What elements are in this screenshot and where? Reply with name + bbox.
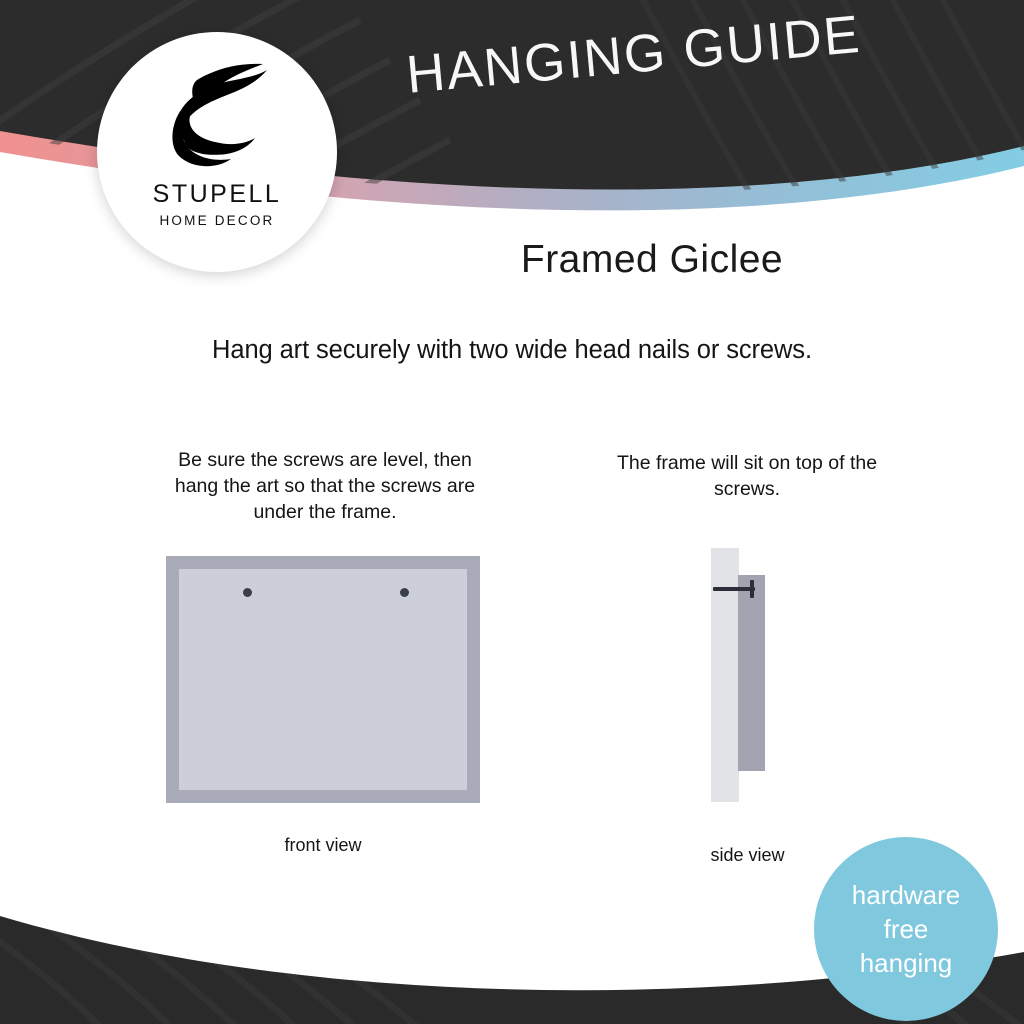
hanging-guide-page: HANGING GUIDE STUPELL HOME DECOR Framed … (0, 0, 1024, 1024)
badge-line-1: hardware (852, 878, 960, 912)
screw-dot-icon (243, 588, 252, 597)
badge-line-2: free (884, 912, 929, 946)
front-view-label: front view (166, 835, 480, 856)
brand-name: STUPELL (153, 182, 282, 207)
badge-line-3: hanging (860, 946, 953, 980)
front-view-diagram (166, 556, 480, 803)
hardware-free-hanging-badge: hardware free hanging (814, 837, 998, 1021)
side-view-diagram (705, 546, 789, 806)
brand-logo-badge: STUPELL HOME DECOR (97, 32, 337, 272)
stupell-s-swoosh-icon (157, 58, 277, 176)
side-view-label: side view (660, 845, 835, 866)
main-instruction: Hang art securely with two wide head nai… (62, 336, 962, 365)
side-view-caption: The frame will sit on top of the screws. (603, 450, 891, 502)
screw-shank-icon (713, 587, 755, 591)
product-type: Framed Giclee (372, 238, 932, 282)
screw-dot-icon (400, 588, 409, 597)
frame-strip (738, 575, 765, 771)
page-title: HANGING GUIDE (372, 1, 895, 109)
front-view-mat (179, 569, 467, 790)
brand-tagline: HOME DECOR (159, 214, 274, 228)
front-view-caption: Be sure the screws are level, then hang … (160, 447, 490, 525)
screw-head-icon (750, 580, 754, 598)
